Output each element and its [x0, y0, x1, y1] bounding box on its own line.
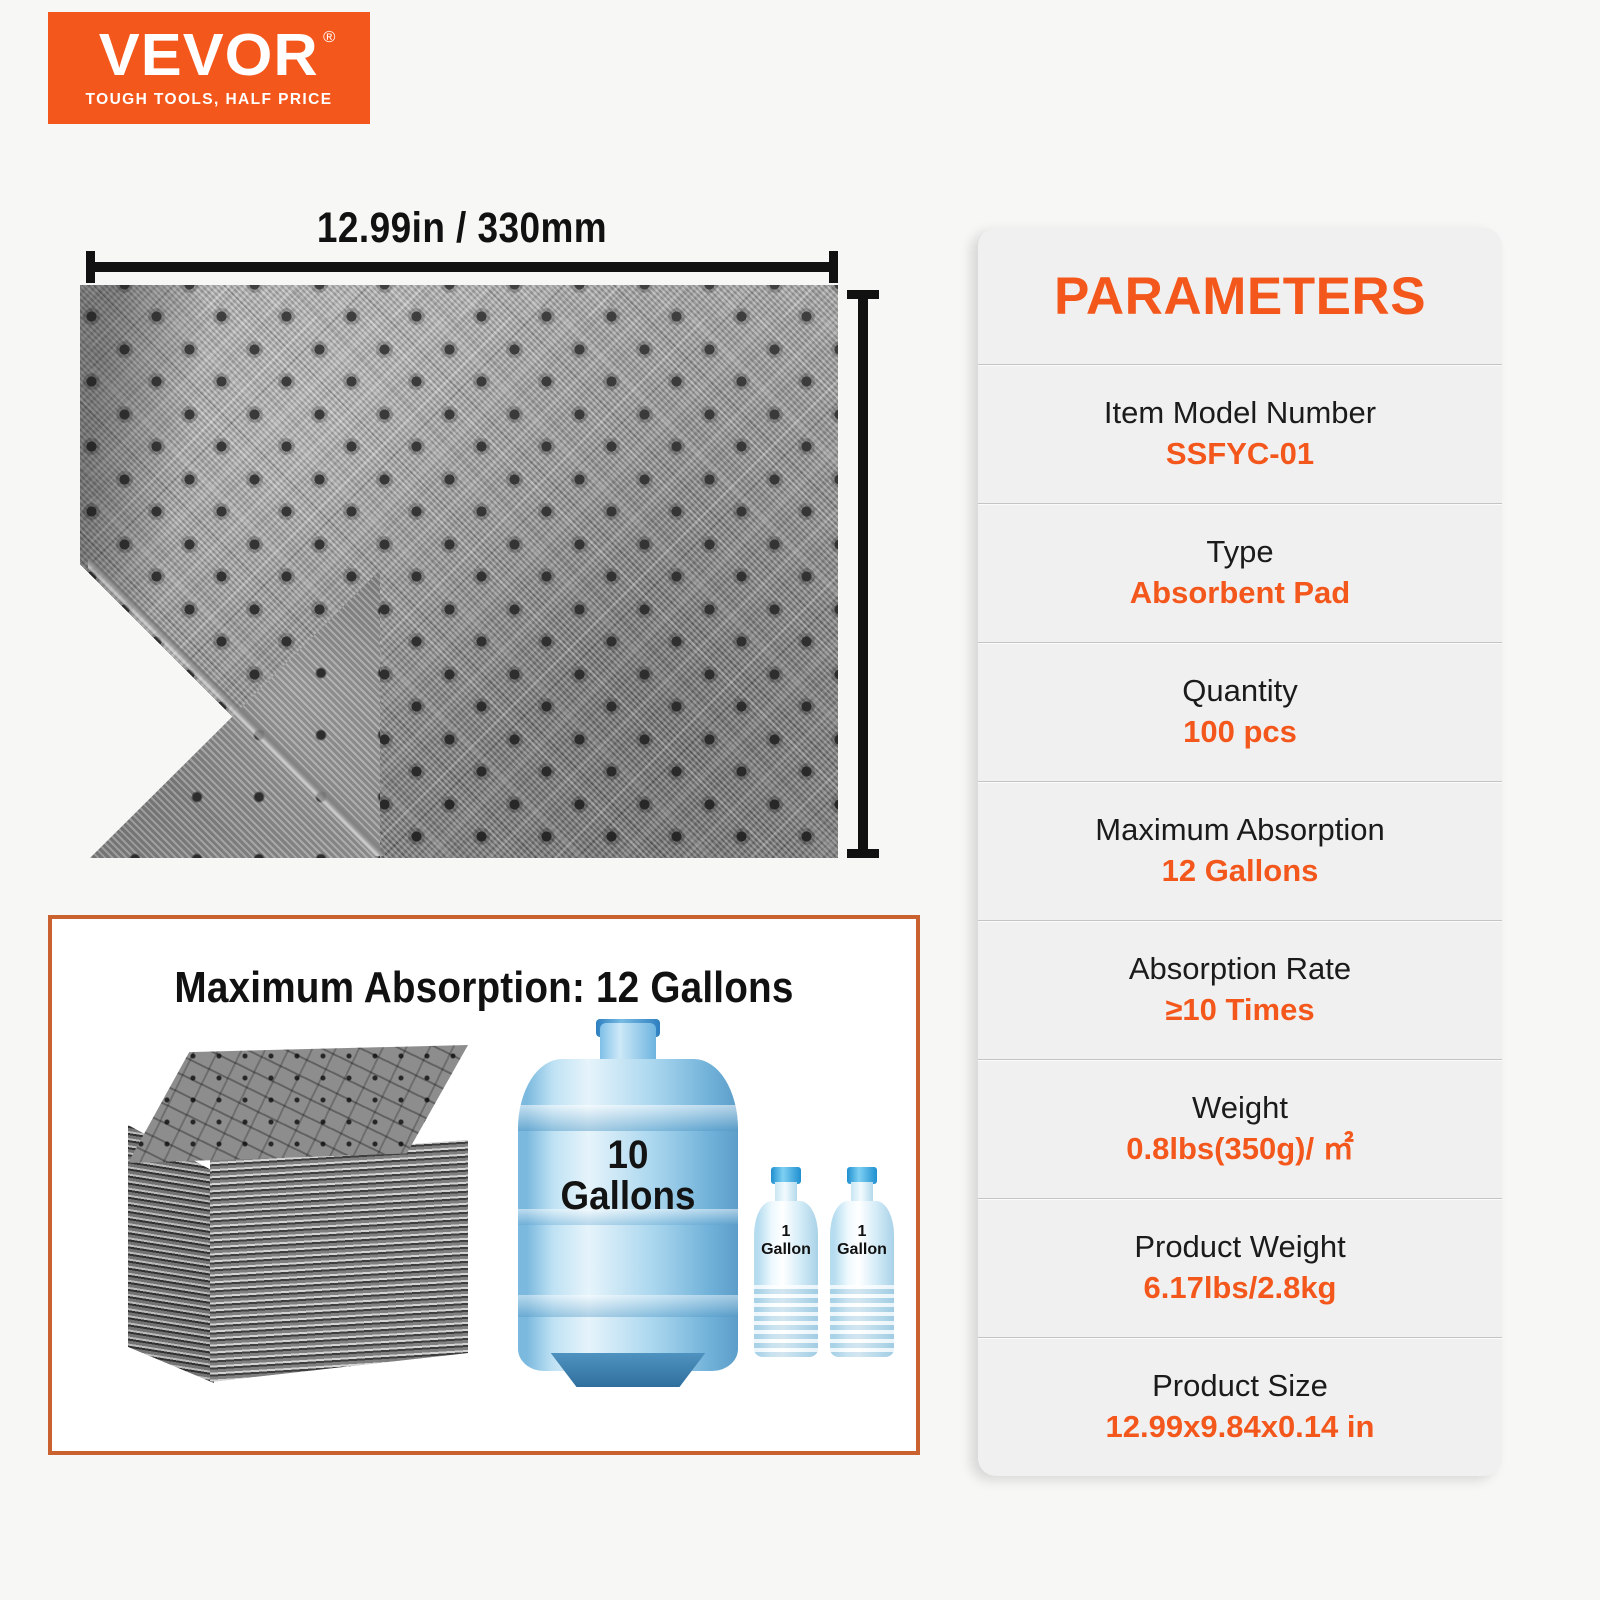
- parameter-value: 100 pcs: [1183, 713, 1297, 752]
- parameter-label: Maximum Absorption: [1095, 811, 1384, 849]
- parameter-label: Product Weight: [1134, 1228, 1345, 1266]
- registered-mark-icon: ®: [323, 30, 336, 45]
- parameters-panel: PARAMETERS Item Model Number SSFYC-01 Ty…: [978, 228, 1502, 1476]
- bottle-capacity-number: 1: [824, 1223, 900, 1241]
- parameter-row-item-model-number: Item Model Number SSFYC-01: [978, 364, 1502, 503]
- brand-name: VEVOR: [99, 22, 319, 88]
- width-dimension-label: 12.99in / 330mm: [139, 204, 786, 253]
- pad-stack-side: [128, 1125, 214, 1383]
- water-bottle-1: 1 Gallon: [754, 1167, 818, 1357]
- bottle-capacity-label: 1 Gallon: [824, 1223, 900, 1259]
- water-bottle-2: 1 Gallon: [830, 1167, 894, 1357]
- bottle-capacity-unit: Gallon: [824, 1241, 900, 1259]
- pad-fold-edge-highlight: [88, 560, 384, 856]
- height-dimension-line-icon: [858, 290, 868, 858]
- water-jug-illustration: 10 Gallons: [518, 1023, 738, 1371]
- parameter-value: 6.17lbs/2.8kg: [1143, 1269, 1336, 1308]
- parameter-value: 12.99x9.84x0.14 in: [1106, 1408, 1375, 1447]
- jug-capacity-unit: Gallons: [527, 1176, 729, 1217]
- bottle-capacity-label: 1 Gallon: [748, 1223, 824, 1259]
- pad-stack-front: [210, 1140, 468, 1382]
- parameter-row-maximum-absorption: Maximum Absorption 12 Gallons: [978, 781, 1502, 920]
- parameter-label: Item Model Number: [1104, 394, 1376, 432]
- brand-wordmark: VEVOR ®: [99, 27, 319, 83]
- parameter-value: Absorbent Pad: [1130, 574, 1350, 613]
- bottle-capacity-unit: Gallon: [748, 1241, 824, 1259]
- parameter-label: Quantity: [1182, 672, 1297, 710]
- parameter-label: Absorption Rate: [1129, 950, 1351, 988]
- parameter-label: Weight: [1192, 1089, 1288, 1127]
- width-dimension-line-icon: [86, 262, 838, 272]
- pad-stack-illustration: [104, 1045, 494, 1385]
- parameter-value: SSFYC-01: [1166, 435, 1314, 474]
- parameter-value: 0.8lbs(350g)/ ㎡: [1126, 1130, 1353, 1169]
- parameter-value: ≥10 Times: [1165, 991, 1314, 1030]
- bottle-capacity-number: 1: [748, 1223, 824, 1241]
- jug-capacity-number: 10: [527, 1135, 729, 1176]
- brand-tagline: TOUGH TOOLS, HALF PRICE: [86, 91, 333, 109]
- parameter-row-quantity: Quantity 100 pcs: [978, 642, 1502, 781]
- parameter-value: 12 Gallons: [1162, 852, 1319, 891]
- parameter-row-weight: Weight 0.8lbs(350g)/ ㎡: [978, 1059, 1502, 1198]
- max-absorption-title: Maximum Absorption: 12 Gallons: [104, 963, 864, 1013]
- parameters-title: PARAMETERS: [978, 228, 1502, 364]
- parameter-label: Product Size: [1152, 1367, 1328, 1405]
- parameter-row-type: Type Absorbent Pad: [978, 503, 1502, 642]
- parameter-row-product-size: Product Size 12.99x9.84x0.14 in: [978, 1337, 1502, 1476]
- max-absorption-card: Maximum Absorption: 12 Gallons 10 Gallon…: [48, 915, 920, 1455]
- jug-capacity-label: 10 Gallons: [527, 1135, 729, 1217]
- parameter-row-absorption-rate: Absorption Rate ≥10 Times: [978, 920, 1502, 1059]
- parameter-label: Type: [1206, 533, 1273, 571]
- absorbent-pad-photo: [80, 285, 838, 858]
- parameter-row-product-weight: Product Weight 6.17lbs/2.8kg: [978, 1198, 1502, 1337]
- vevor-logo: VEVOR ® TOUGH TOOLS, HALF PRICE: [48, 12, 370, 124]
